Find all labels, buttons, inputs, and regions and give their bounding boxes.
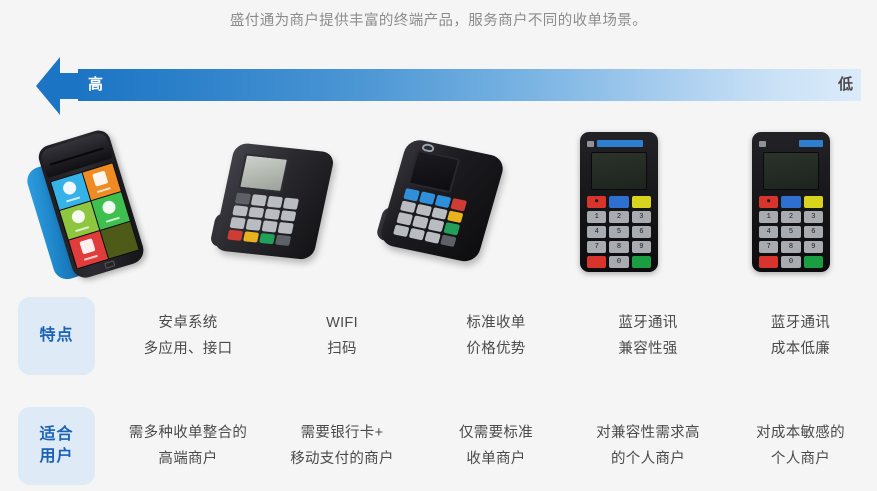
- features-label-line-1: 特点: [39, 325, 73, 347]
- users-cell-1-line-1: 需要银行卡+: [264, 420, 420, 446]
- users-cell-0-line-2: 高端商户: [112, 446, 264, 472]
- features-row-label: 特点: [18, 297, 95, 375]
- features-row: 特点 安卓系统 多应用、接口 WIFI 扫码 标准收单 价格优势 蓝牙通讯 兼容…: [0, 292, 877, 380]
- users-label-line-1: 适合: [39, 424, 73, 446]
- features-cell-countertop-pos: WIFI 扫码: [264, 310, 420, 362]
- bluetooth-mpos-b-illustration: ⏺ 123 456 789 0: [752, 132, 830, 272]
- features-cell-3-line-1: 蓝牙通讯: [572, 310, 724, 336]
- bluetooth-mpos-a-illustration: ⏺ 123 456 789 0: [580, 132, 658, 272]
- features-cell-4-line-2: 成本低廉: [724, 336, 877, 362]
- features-cell-3-line-2: 兼容性强: [572, 336, 724, 362]
- features-cell-1-line-2: 扫码: [264, 336, 420, 362]
- features-cell-4-line-1: 蓝牙通讯: [724, 310, 877, 336]
- features-cell-android-smart-pos: 安卓系统 多应用、接口: [112, 310, 264, 362]
- countertop-pos-illustration: [196, 131, 363, 273]
- cost-axis-arrow: 高 低: [0, 52, 877, 118]
- users-cell-1-line-2: 移动支付的商户: [264, 446, 420, 472]
- target-users-row-label-cell: 适合 用户: [0, 407, 112, 485]
- users-cell-0-line-1: 需多种收单整合的: [112, 420, 264, 446]
- features-cell-bluetooth-mpos-a: 蓝牙通讯 兼容性强: [572, 310, 724, 362]
- features-cell-1-line-1: WIFI: [264, 310, 420, 336]
- product-image-countertop-pos: [198, 122, 362, 282]
- page-headline: 盛付通为商户提供丰富的终端产品，服务商户不同的收单场景。: [0, 9, 877, 30]
- users-cell-bluetooth-mpos-b: 对成本敏感的 个人商户: [724, 420, 877, 472]
- target-users-row: 适合 用户 需多种收单整合的 高端商户 需要银行卡+ 移动支付的商户 仅需要标准…: [0, 402, 877, 490]
- users-cell-android-smart-pos: 需多种收单整合的 高端商户: [112, 420, 264, 472]
- android-smart-pos-illustration: [5, 108, 192, 295]
- users-cell-2-line-1: 仅需要标准: [420, 420, 572, 446]
- target-users-row-label: 适合 用户: [18, 407, 95, 485]
- features-cell-bluetooth-mpos-b: 蓝牙通讯 成本低廉: [724, 310, 877, 362]
- users-cell-countertop-pos: 需要银行卡+ 移动支付的商户: [264, 420, 420, 472]
- users-cell-4-line-1: 对成本敏感的: [724, 420, 877, 446]
- axis-label-low: 低: [0, 74, 853, 96]
- features-cell-0-line-2: 多应用、接口: [112, 336, 264, 362]
- users-cell-bluetooth-mpos-a: 对兼容性需求高 的个人商户: [572, 420, 724, 472]
- features-row-label-cell: 特点: [0, 297, 112, 375]
- sleek-mobile-pos-illustration: [361, 125, 534, 279]
- product-image-sleek-mobile-pos: [362, 122, 533, 282]
- users-label-line-2: 用户: [39, 446, 73, 468]
- product-image-row: ⏺ 123 456 789 0 ⏺ 123 456 789 0: [0, 122, 877, 282]
- features-cell-2-line-2: 价格优势: [420, 336, 572, 362]
- users-cell-2-line-2: 收单商户: [420, 446, 572, 472]
- features-cell-sleek-mobile-pos: 标准收单 价格优势: [420, 310, 572, 362]
- users-cell-4-line-2: 个人商户: [724, 446, 877, 472]
- features-cell-2-line-1: 标准收单: [420, 310, 572, 336]
- users-cell-3-line-2: 的个人商户: [572, 446, 724, 472]
- product-image-bluetooth-mpos-a: ⏺ 123 456 789 0: [533, 122, 705, 282]
- features-cell-0-line-1: 安卓系统: [112, 310, 264, 336]
- product-image-bluetooth-mpos-b: ⏺ 123 456 789 0: [705, 122, 877, 282]
- users-cell-sleek-mobile-pos: 仅需要标准 收单商户: [420, 420, 572, 472]
- product-image-android-smart-pos: [0, 122, 198, 282]
- users-cell-3-line-1: 对兼容性需求高: [572, 420, 724, 446]
